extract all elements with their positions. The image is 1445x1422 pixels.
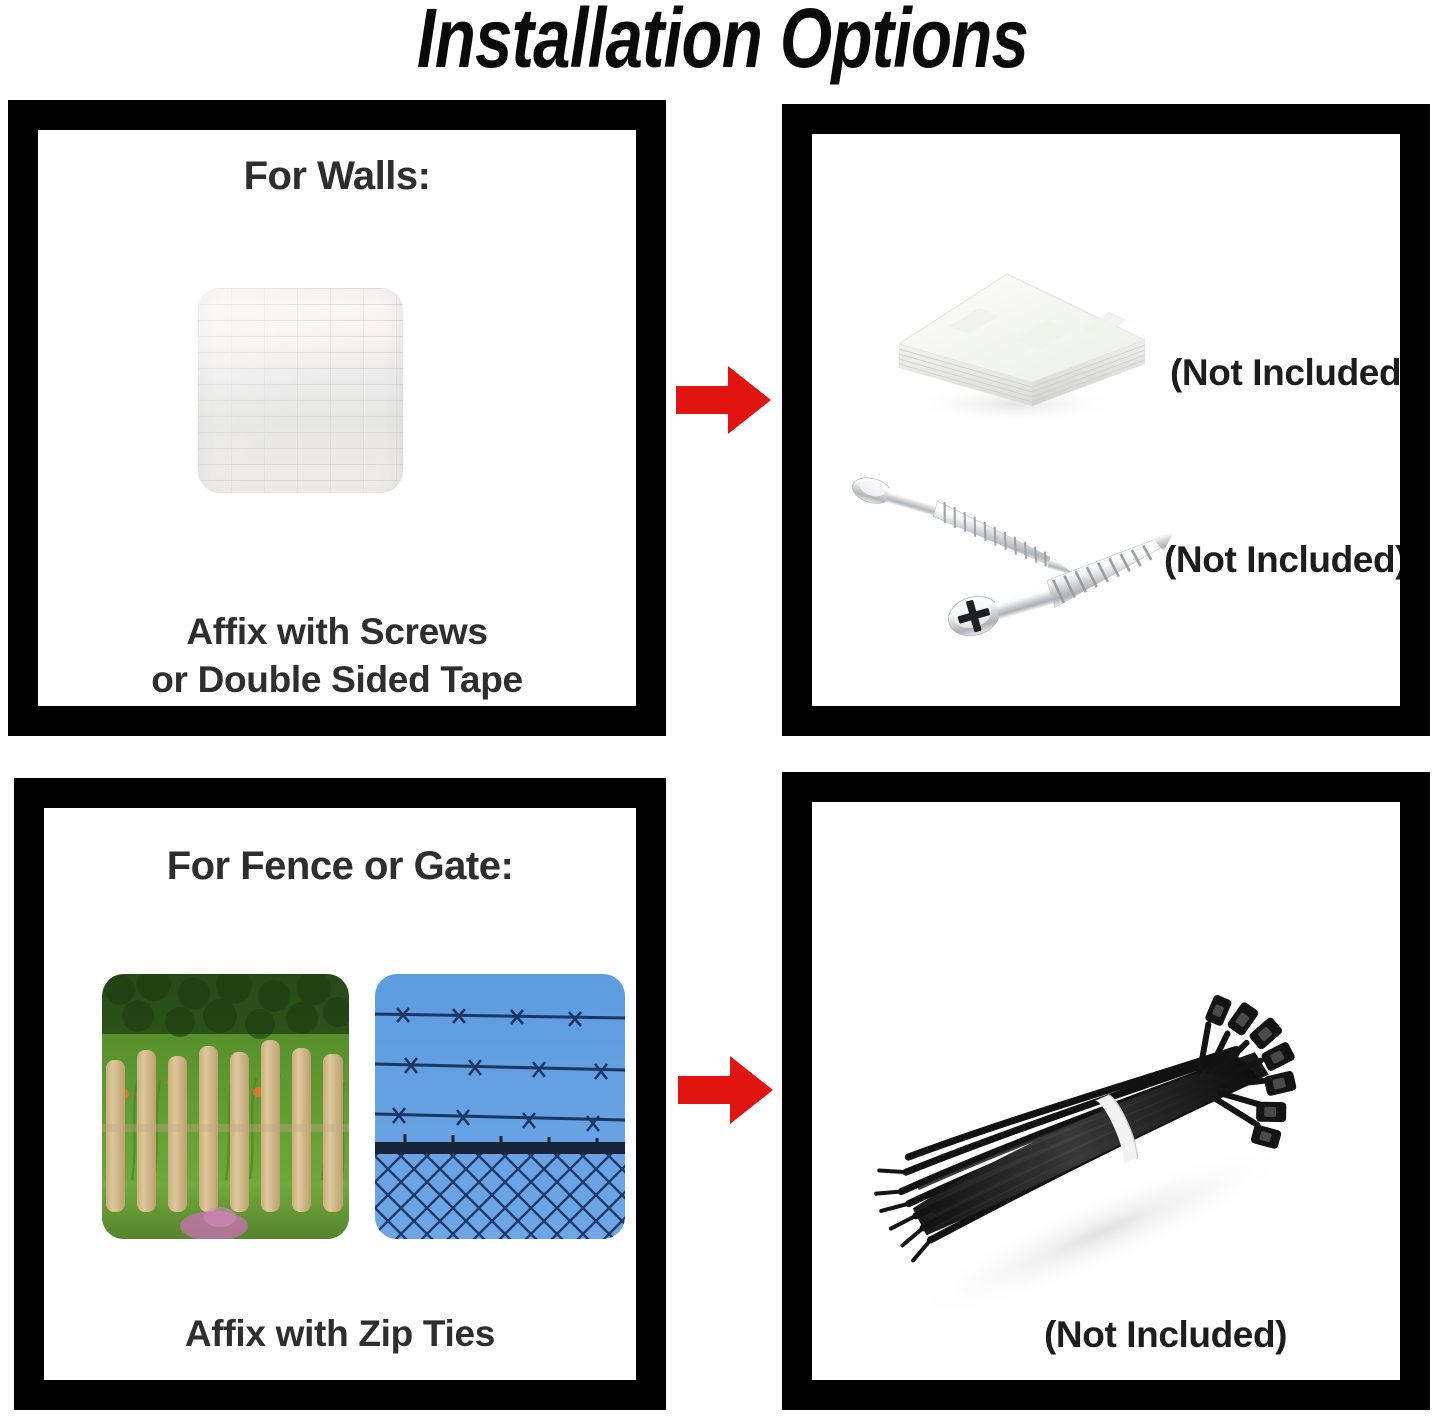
panel-fence-heading: For Fence or Gate:: [44, 844, 636, 889]
screws-not-included-label: (Not Included): [1164, 539, 1407, 581]
panel-fence-caption: Affix with Zip Ties: [44, 1310, 636, 1357]
chain-link-barbed-wire-fence-photo: [375, 974, 625, 1239]
tape-not-included-label: (Not Included): [1170, 352, 1413, 394]
silver-wood-screw-lower: [940, 534, 1198, 654]
panel-for-walls: For Walls: Affix with Screws or Double S…: [8, 100, 666, 736]
panel-walls-heading: For Walls:: [38, 154, 636, 199]
white-brick-wall-swatch: [198, 288, 403, 493]
wooden-picket-fence-photo: [102, 974, 349, 1239]
page-title: Installation Options: [145, 0, 1301, 82]
right-arrow-icon: [678, 1054, 774, 1126]
black-zip-tie-bundle: [852, 932, 1352, 1322]
right-arrow-icon: [676, 364, 772, 436]
panel-zip-ties: (Not Included): [782, 772, 1430, 1410]
double-sided-tape-stack: [887, 254, 1157, 434]
panel-walls-caption-line1: Affix with Screws: [38, 608, 636, 655]
panel-walls-caption-line2: or Double Sided Tape: [38, 656, 636, 703]
panel-hardware: (Not Included): [782, 104, 1430, 736]
panel-for-fence-or-gate: For Fence or Gate:: [14, 778, 666, 1410]
zipties-not-included-label: (Not Included): [1044, 1314, 1287, 1356]
